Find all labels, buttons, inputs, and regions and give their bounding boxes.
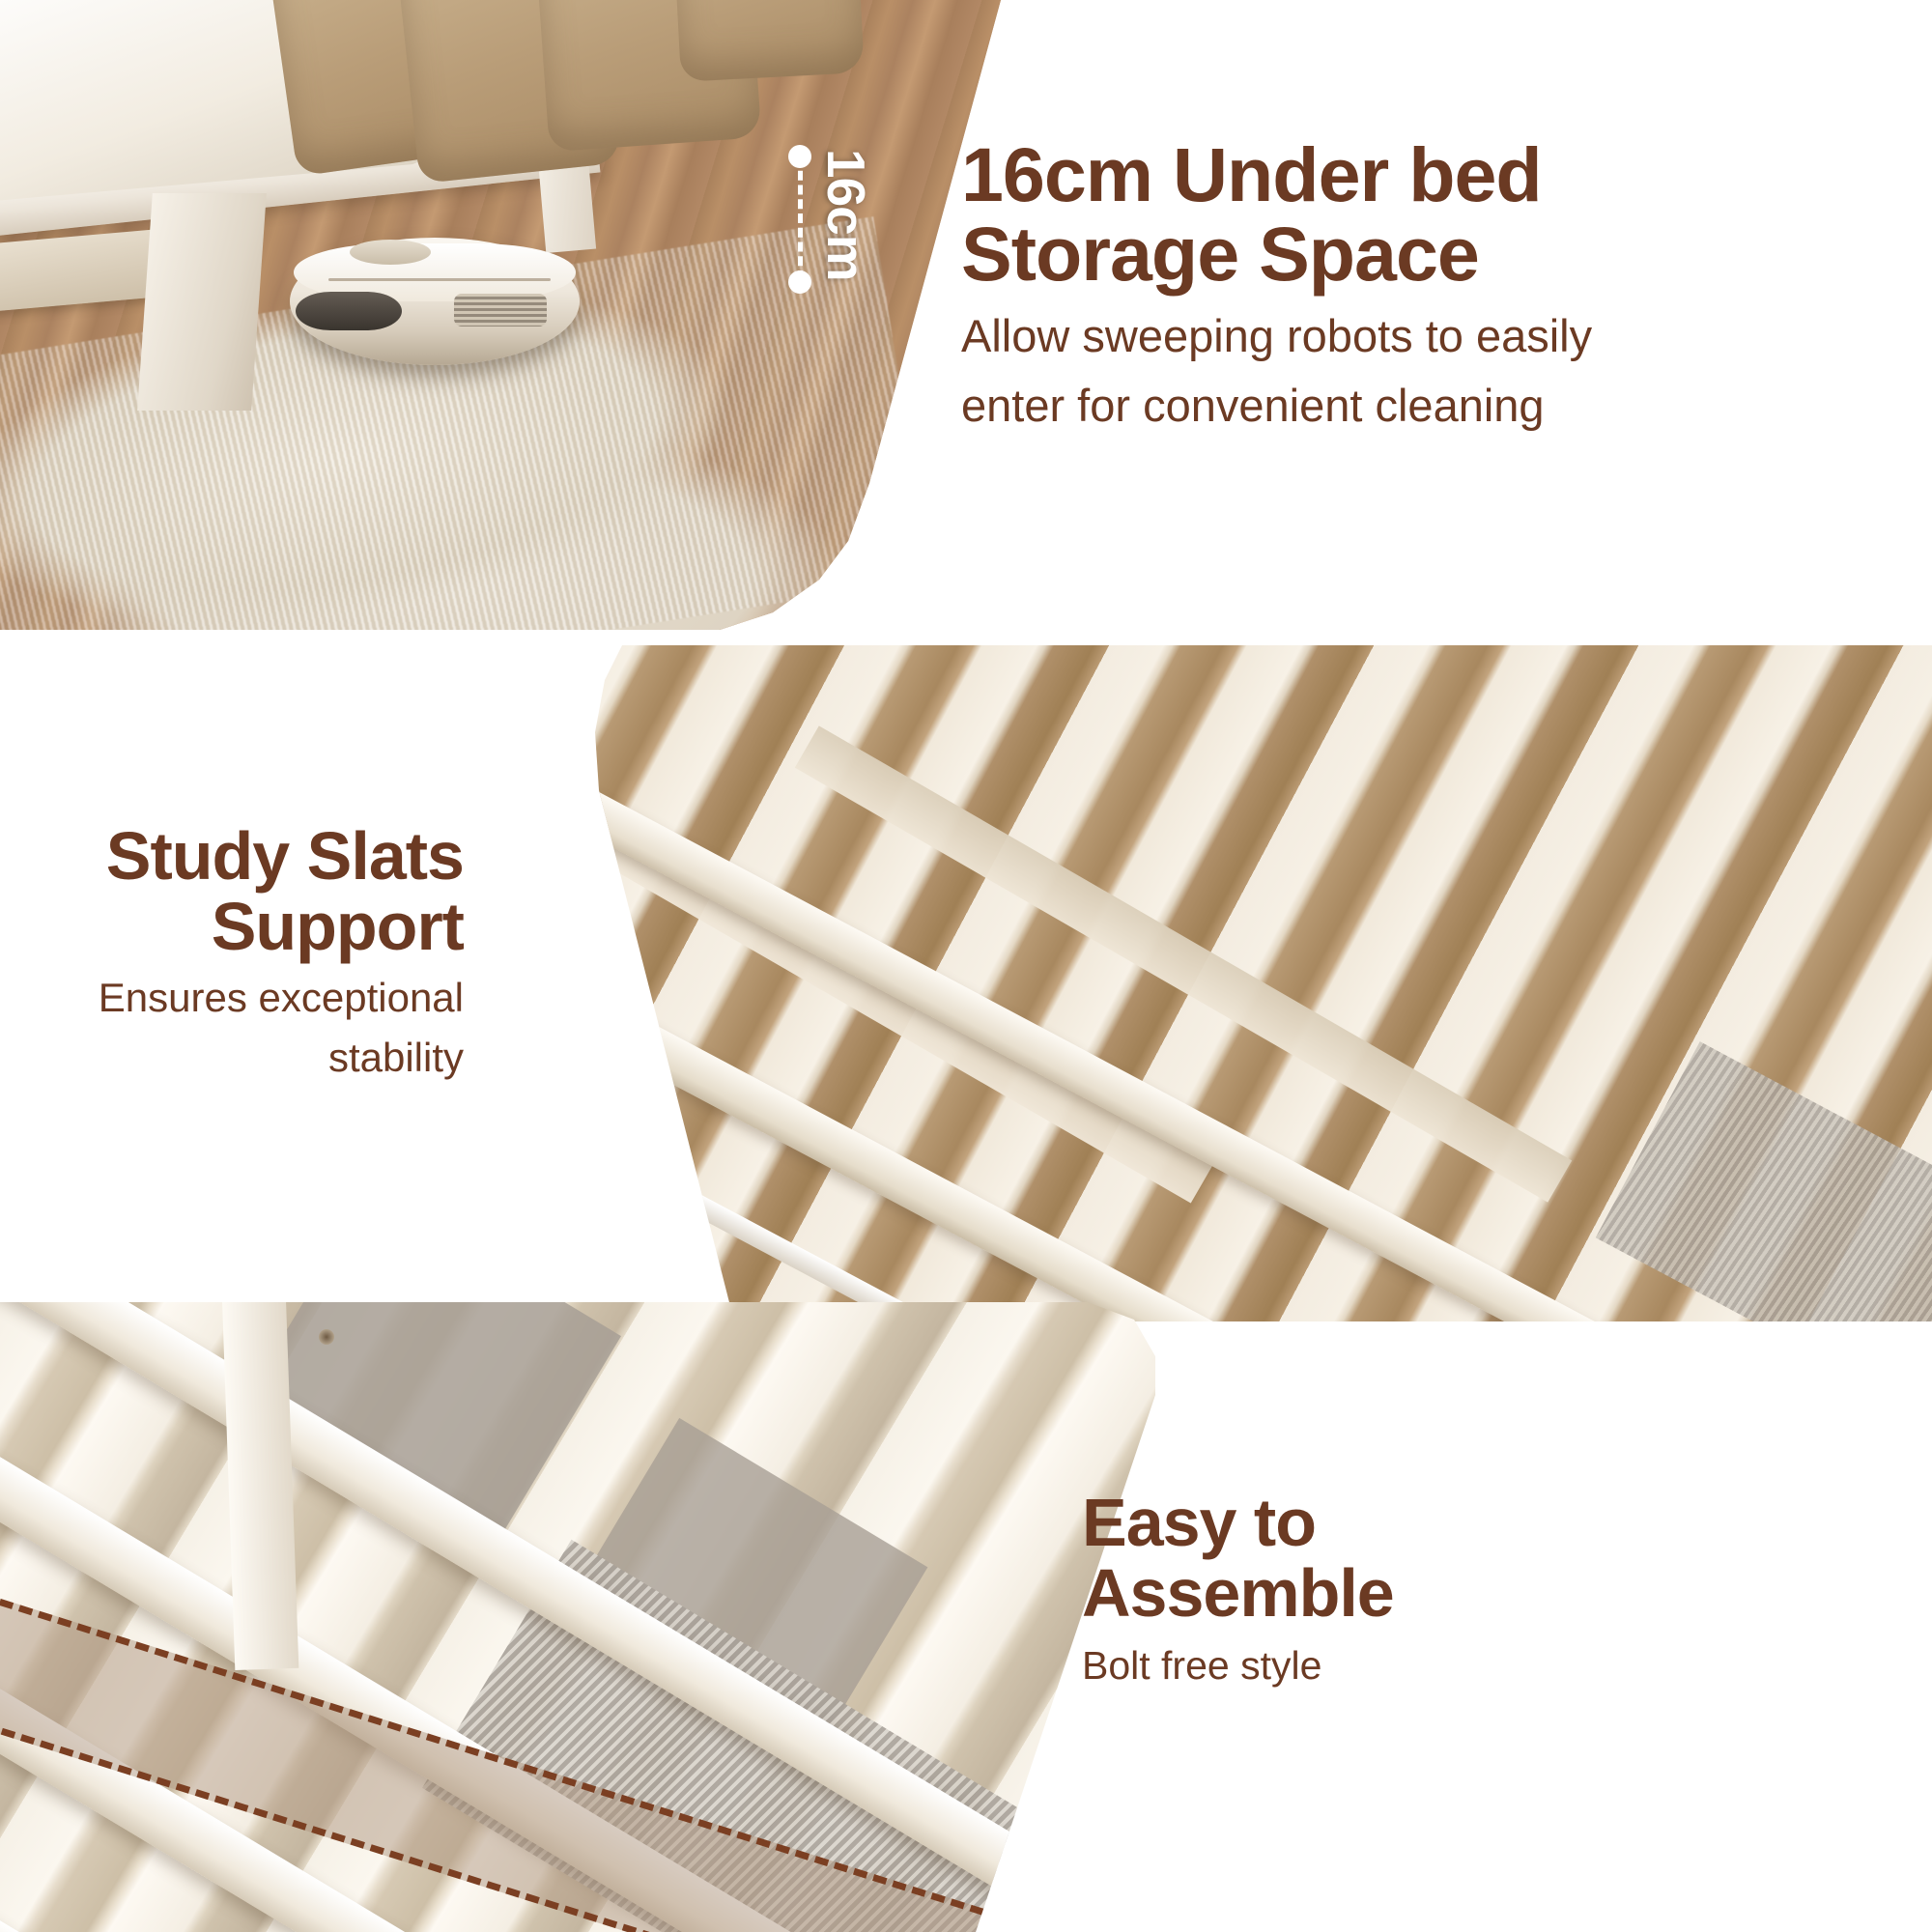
photo-under-bed-storage: 16cm xyxy=(0,0,1005,630)
screw-hole-icon xyxy=(319,1329,334,1345)
dimension-dashed-line xyxy=(798,156,803,280)
feature-heading-line1: 16cm Under bed xyxy=(961,135,1918,214)
feature-heading-line2: Support xyxy=(58,892,464,962)
feature-subtext-line2: stability xyxy=(58,1034,464,1082)
feature-subtext-line1: Ensures exceptional xyxy=(58,974,464,1022)
feature-text-sturdy-slats: Study Slats Support Ensures exceptional … xyxy=(58,821,464,1082)
dimension-label: 16cm xyxy=(819,149,872,281)
dimension-callout-16cm: 16cm xyxy=(784,143,920,298)
mattress-fabric-edge xyxy=(1596,1041,1932,1321)
feature-heading-line2: Storage Space xyxy=(961,214,1918,294)
duvet-fold-4 xyxy=(671,0,865,82)
dimension-endpoint-top-icon xyxy=(788,145,811,168)
under-bed-shelf xyxy=(0,230,157,312)
corner-post xyxy=(221,1302,299,1670)
photo-easy-assemble xyxy=(0,1302,1159,1932)
robot-vacuum-lidar-turret xyxy=(350,240,431,265)
photo-sturdy-slats xyxy=(580,645,1932,1321)
bed-leg-front xyxy=(137,193,267,411)
robot-vacuum-bumper xyxy=(296,292,402,330)
feature-heading-line1: Study Slats xyxy=(58,821,464,892)
feature-text-under-bed-storage: 16cm Under bed Storage Space Allow sweep… xyxy=(961,135,1918,432)
dimension-endpoint-bottom-icon xyxy=(788,270,811,294)
feature-subtext-line1: Allow sweeping robots to easily xyxy=(961,309,1918,362)
feature-heading-line2: Assemble xyxy=(1082,1558,1758,1629)
feature-subtext-line2: enter for convenient cleaning xyxy=(961,379,1918,432)
robot-vacuum xyxy=(290,238,580,365)
feature-heading-line1: Easy to xyxy=(1082,1488,1758,1558)
product-feature-collage: 16cm 16cm Under bed Storage Space Allow … xyxy=(0,0,1932,1932)
robot-vacuum-vent-grille xyxy=(454,294,547,327)
feature-text-easy-assemble: Easy to Assemble Bolt free style xyxy=(1082,1488,1758,1690)
feature-subtext-line1: Bolt free style xyxy=(1082,1642,1758,1690)
robot-vacuum-seam xyxy=(328,278,551,281)
